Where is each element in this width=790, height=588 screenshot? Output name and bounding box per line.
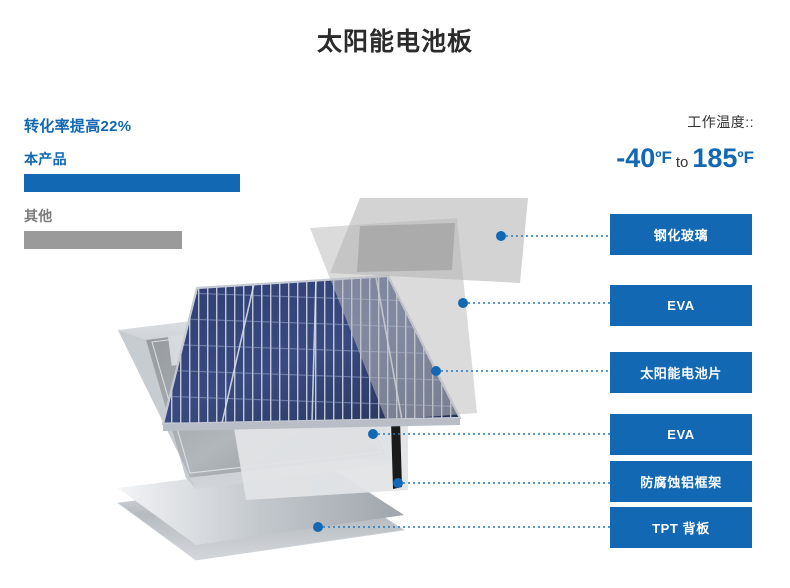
connector-dot-icon [313,522,323,532]
connector-dot-icon [431,366,441,376]
layer-label-tpt-backsheet[interactable]: TPT 背板 [610,507,752,548]
connector-aluminum-frame [393,478,610,488]
layer-label-text: TPT 背板 [652,518,710,537]
connector-tempered-glass [496,231,610,241]
layer-label-solar-cell[interactable]: 太阳能电池片 [610,352,752,393]
layer-label-eva-top[interactable]: EVA [610,285,752,326]
connector-dot-icon [393,478,403,488]
layer-label-aluminum-frame[interactable]: 防腐蚀铝框架 [610,461,752,502]
layer-label-text: EVA [667,427,695,442]
layer-label-text: 钢化玻璃 [654,225,708,244]
layer-label-eva-bottom[interactable]: EVA [610,414,752,455]
connector-dot-icon [458,298,468,308]
connector-dot-icon [496,231,506,241]
layer-label-tempered-glass[interactable]: 钢化玻璃 [610,214,752,255]
connector-eva-bottom [368,429,610,439]
layer-label-text: 太阳能电池片 [640,363,722,382]
connector-solar-cell [431,366,610,376]
connector-eva-top [458,298,610,308]
layer-label-text: 防腐蚀铝框架 [640,472,722,491]
connector-dot-icon [368,429,378,439]
infographic-canvas: 太阳能电池板 转化率提高22% 本产品 其他 工作温度:: -40ºFto185… [0,0,790,588]
layer-label-text: EVA [667,298,695,313]
connector-tpt-backsheet [313,522,610,532]
